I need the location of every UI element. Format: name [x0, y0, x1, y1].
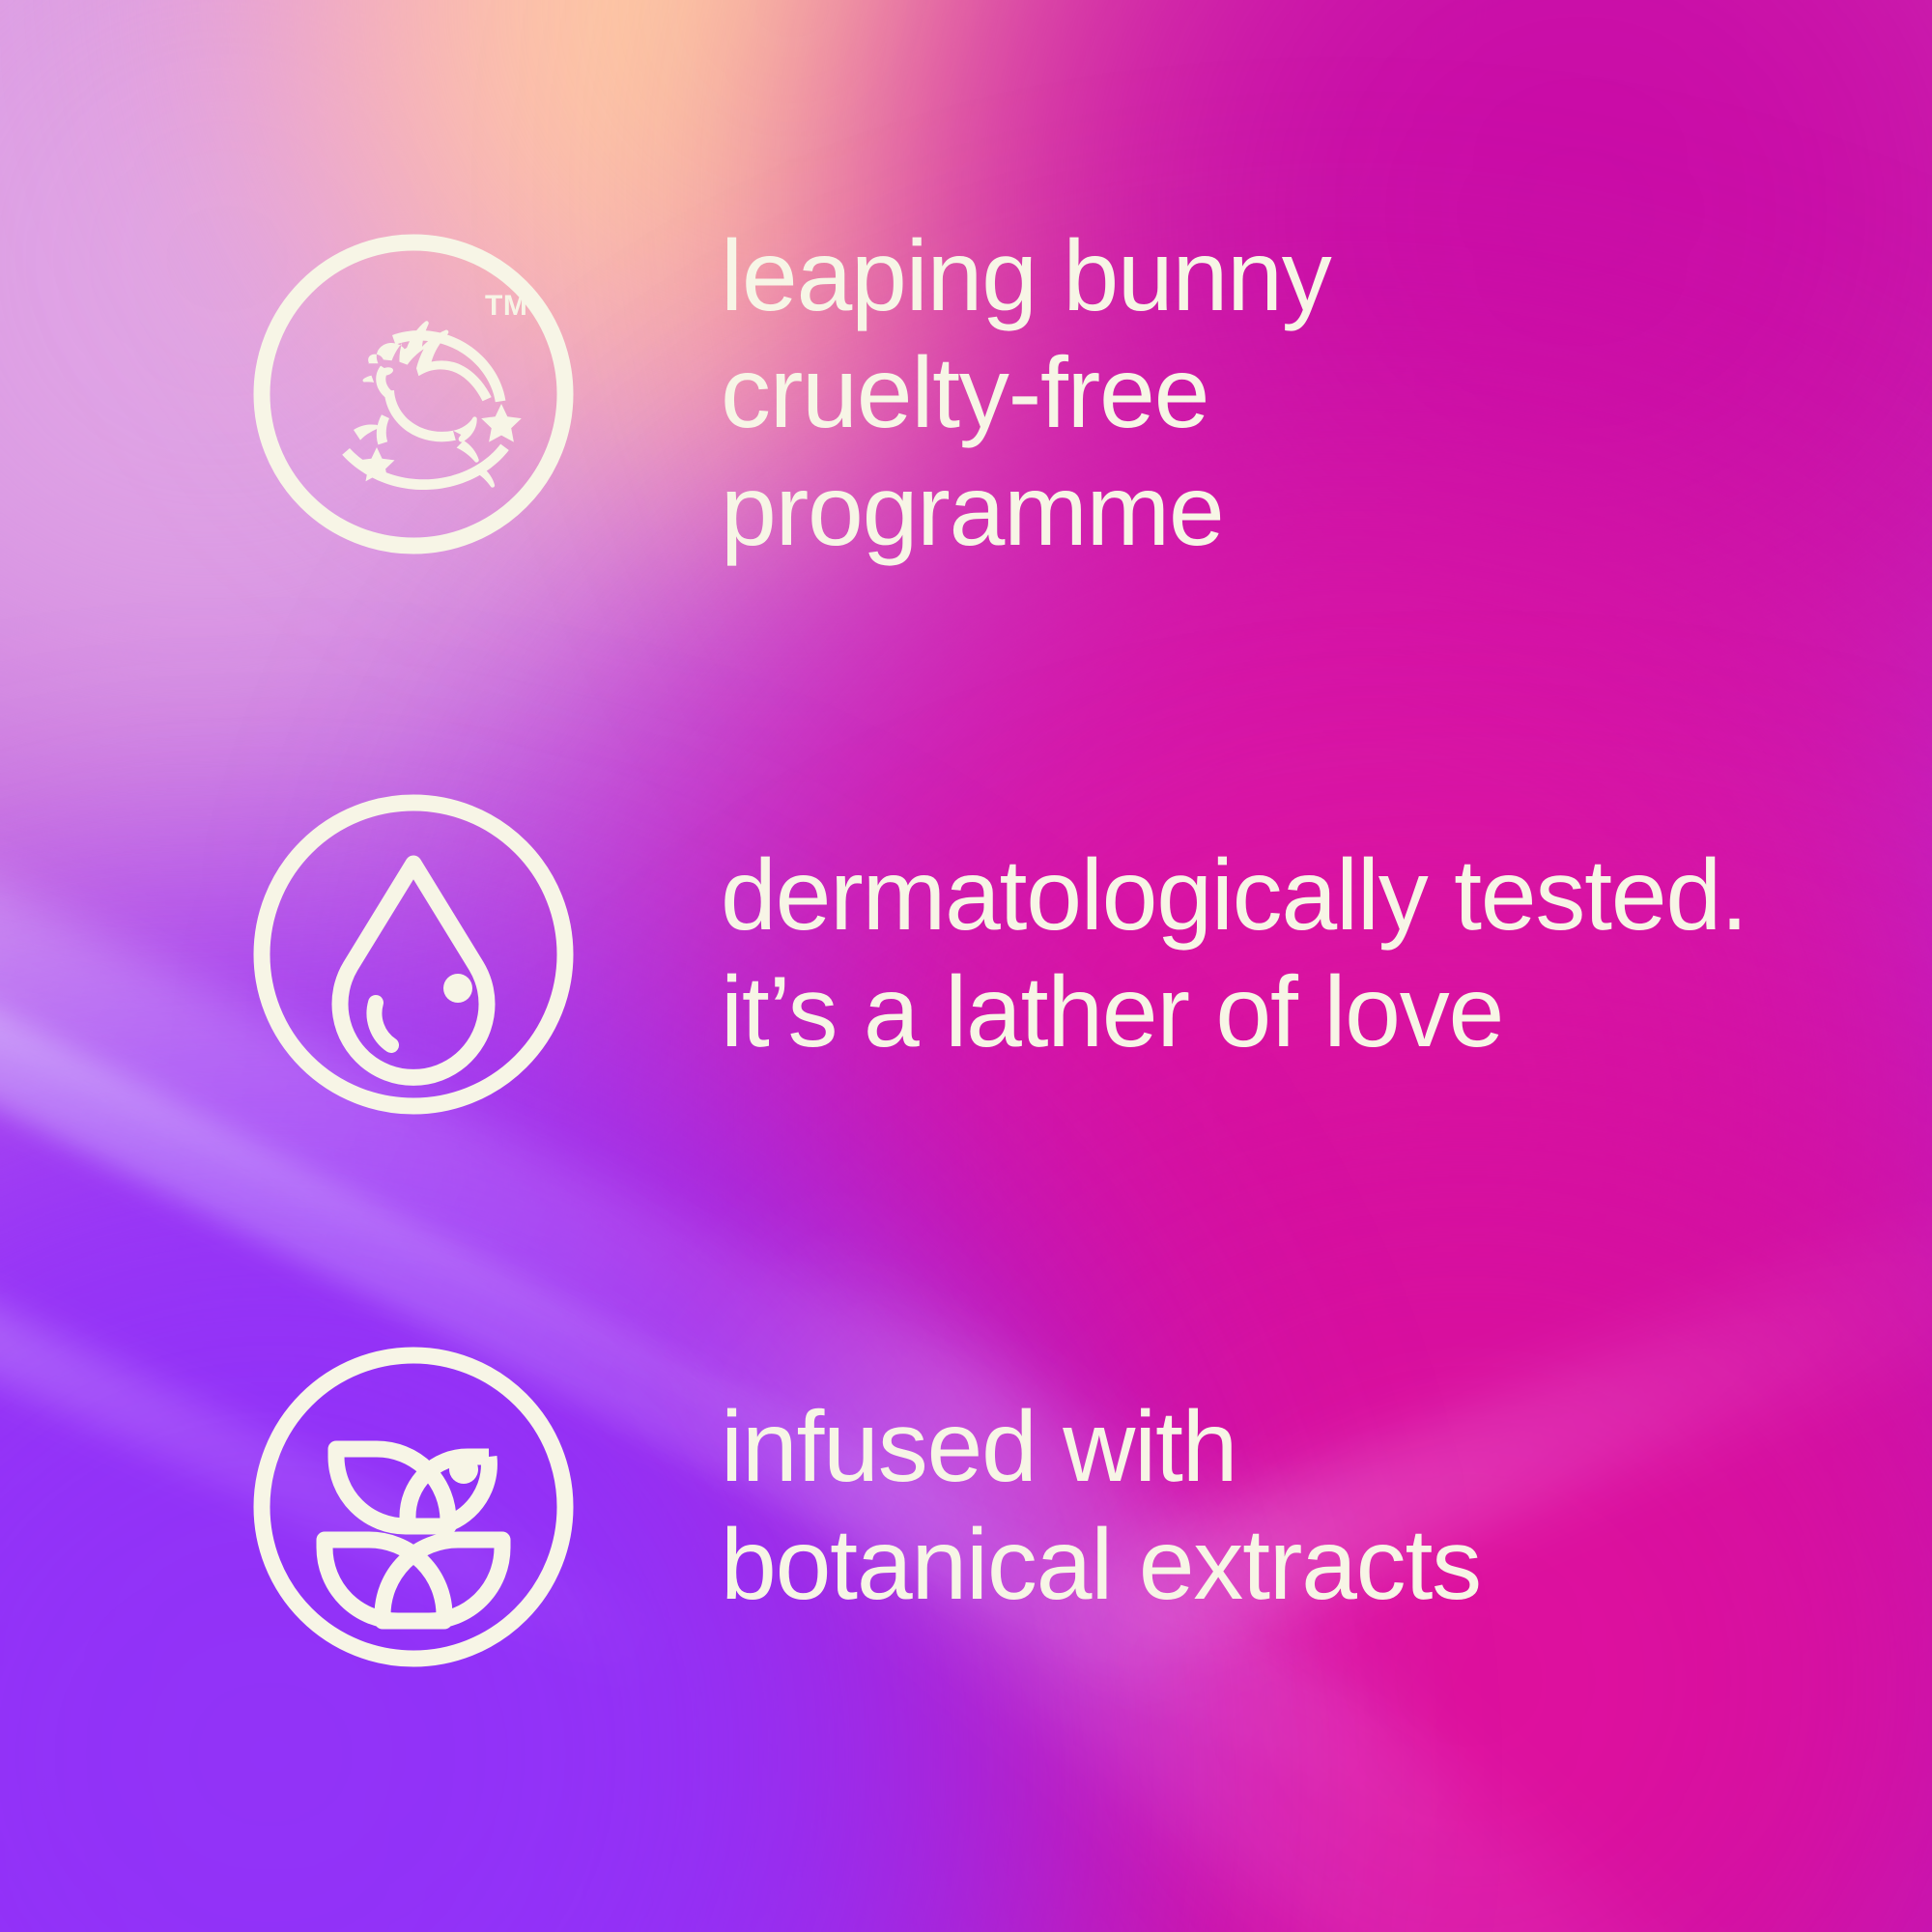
benefit-item-cruelty-free: TM leaping bunny cruelty-free programme [0, 220, 1932, 568]
benefit-label-dermatologically-tested: dermatologically tested. it’s a lather o… [721, 838, 1747, 1070]
benefits-list: TM leaping bunny cruelty-free programme … [0, 0, 1932, 1932]
benefit-item-dermatologically-tested: dermatologically tested. it’s a lather o… [0, 781, 1932, 1128]
leaping-bunny-icon: TM [240, 220, 587, 568]
botanical-leaves-icon [240, 1333, 587, 1681]
water-droplet-icon [240, 781, 587, 1128]
benefit-label-botanical-extracts: infused with botanical extracts [721, 1389, 1481, 1624]
trademark-mark: TM [485, 290, 527, 322]
benefit-item-botanical-extracts: infused with botanical extracts [0, 1333, 1932, 1681]
product-benefits-panel: TM leaping bunny cruelty-free programme … [0, 0, 1932, 1932]
benefit-label-cruelty-free: leaping bunny cruelty-free programme [721, 218, 1330, 571]
